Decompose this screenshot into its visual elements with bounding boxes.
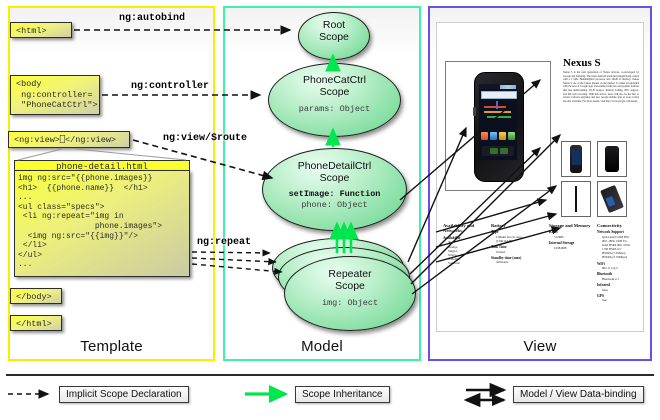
spec-column-availability: Availability and Networks Availability 3… (443, 223, 485, 265)
phone-screen (479, 84, 517, 160)
callout-code: img ng:src="{{phone.images}} <h1> {{phon… (18, 174, 162, 270)
thumb-screen (572, 149, 581, 165)
legend-item-data-binding: Model / View Data-binding (513, 386, 644, 403)
hero-image-frame (445, 61, 551, 191)
spec-header: Connectivity (597, 223, 643, 228)
scope-root: RootScope (298, 12, 370, 60)
view-rendered-page: Nexus S Nexus S is the next generation o… (436, 22, 644, 332)
search-widget-icon (481, 91, 517, 99)
legend-item-implicit-scope-declaration: Implicit Scope Declaration (59, 386, 189, 403)
thumb-phone-back-icon (605, 146, 619, 172)
spec-values: Quad-band GSM 850,900, 1800, 1900 Tri-ba… (597, 235, 643, 260)
spec-values: 802.11 b/g/n (597, 266, 643, 270)
scope-repeater-name: RepeaterScope (285, 268, 415, 292)
callout-phone-detail-html: img ng:src="{{phone.images}} <h1> {{phon… (14, 170, 190, 277)
thumbnail-3[interactable] (561, 181, 591, 217)
wallpaper-stripe-green (487, 116, 511, 118)
code-chip-body-close: </body> (10, 288, 62, 304)
spec-values: 16384MB (549, 246, 595, 250)
wallpaper-stripe-red (484, 106, 506, 108)
phone-soft-key-1-icon (490, 148, 498, 154)
phone-illustration (474, 72, 524, 182)
panel-template-label: Template (10, 338, 213, 355)
legend-item-scope-inheritance: Scope Inheritance (295, 386, 390, 403)
label-ng-controller: ng:controller (131, 81, 209, 92)
spec-header: Battery (491, 223, 543, 228)
thumbnail-2[interactable] (597, 141, 627, 177)
status-icons (500, 85, 516, 89)
thumb-phone-icon (570, 145, 582, 173)
code-chip-html-open: <html> (10, 22, 72, 38)
scope-phonedetailctrl-name: PhoneDetailCtrlScope (263, 160, 406, 184)
spec-values: false (597, 288, 643, 292)
scope-phonecatctrl-name: PhoneCatCtrlScope (269, 74, 400, 98)
view-product-description: Nexus S is the next generation of Nexus … (563, 71, 639, 103)
scope-phonedetailctrl-prop-setimage: setImage: Function (263, 189, 406, 200)
spec-column-storage: Storage and Memory RAM 512MB Internal St… (549, 223, 595, 250)
scope-phonedetailctrl: PhoneDetailCtrlScope setImage: Function … (262, 148, 407, 231)
wallpaper-stripe-yellow (484, 111, 511, 113)
spec-values: Lithium Ion (Li-Ion)(1500 mAH) (491, 235, 543, 243)
spec-column-battery: Battery Type Lithium Ion (Li-Ion)(1500 m… (491, 223, 543, 265)
thumbnail-4[interactable] (597, 181, 627, 217)
app-icon-2 (490, 132, 497, 140)
phone-status-bar (479, 84, 517, 89)
diagram-canvas: Template Model View <html> <body ng:cont… (0, 0, 660, 420)
thumbnail-1[interactable] (561, 141, 591, 177)
scope-repeater-prop-img: img: Object (285, 298, 415, 309)
spec-header: Storage and Memory (549, 223, 595, 228)
code-chip-html-close: </html> (10, 315, 62, 331)
spec-header: Availability and Networks (443, 223, 485, 234)
app-icon-1 (481, 132, 488, 140)
panel-view-label: View (430, 338, 650, 355)
phone-soft-key-2-icon (500, 148, 508, 154)
thumb-phone-edge-icon (575, 186, 577, 212)
view-product-title: Nexus S (563, 57, 601, 69)
scope-phonecatctrl: PhoneCatCtrlScope params: Object (268, 63, 401, 137)
spec-values: 428 hours (491, 260, 543, 264)
spec-values: 3G:Orange,Singtel,Telstra,T-Mobile,Vodaf… (443, 240, 485, 265)
spec-values: Bluetooth 2.1 (597, 277, 643, 281)
spec-values: 6 hours (491, 250, 543, 254)
home-bar (482, 146, 514, 156)
label-ng-repeat: ng:repeat (197, 237, 251, 248)
scope-repeater: RepeaterScope img: Object (284, 256, 416, 331)
app-icon-4 (508, 132, 515, 140)
scope-root-name: RootScope (299, 19, 369, 43)
code-chip-ngview: <ng:view>⎕</ng:view> (8, 131, 130, 148)
spec-column-connectivity: Connectivity Network Support Quad-band G… (597, 223, 643, 302)
code-chip-body-open: <body ng:controller= "PhoneCatCtrl"> (10, 75, 100, 115)
spec-values: 512MB (549, 235, 595, 239)
scope-phonecatctrl-prop-params: params: Object (269, 104, 400, 115)
label-ng-view-route: ng:view/$route (163, 133, 247, 144)
spec-values: true (597, 298, 643, 302)
scope-phonedetailctrl-prop-phone: phone: Object (263, 200, 406, 211)
phone-side-button-icon (473, 107, 476, 116)
label-ng-autobind: ng:autobind (119, 13, 185, 24)
app-icon-3 (499, 132, 506, 140)
app-dock (481, 132, 515, 144)
legend-divider (6, 374, 654, 376)
panel-model-label: Model (225, 338, 419, 355)
